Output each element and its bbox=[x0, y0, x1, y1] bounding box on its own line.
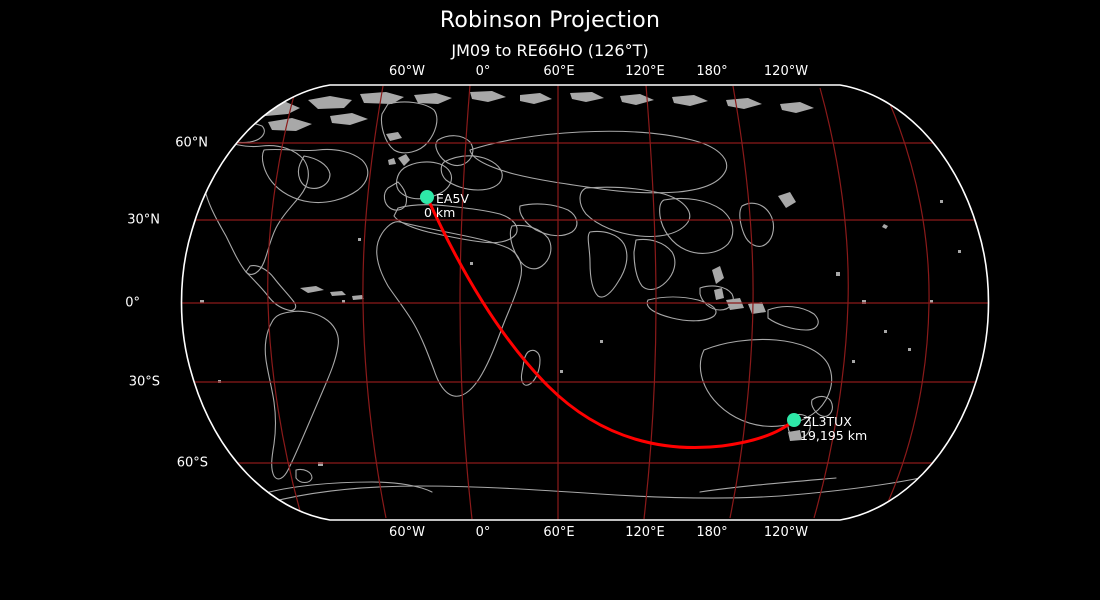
lon-tick-top-120e: 120°E bbox=[625, 64, 665, 79]
lon-tick-bottom-120w: 120°W bbox=[764, 525, 808, 540]
lon-tick-bottom-60e: 60°E bbox=[543, 525, 574, 540]
marker-endpoint-origin[interactable] bbox=[420, 190, 434, 204]
lat-tick-60s: 60°S bbox=[118, 456, 208, 471]
lon-tick-top-0: 0° bbox=[476, 64, 491, 79]
map-figure: Robinson Projection JM09 to RE66HO (126°… bbox=[0, 0, 1100, 600]
marker-endpoint-destination[interactable] bbox=[787, 413, 801, 427]
marker-distance-destination: 19,195 km bbox=[800, 428, 867, 443]
marker-distance-origin: 0 km bbox=[424, 205, 455, 220]
map-face bbox=[140, 80, 1000, 530]
marker-label-origin: EA5V bbox=[436, 191, 469, 206]
marker-label-destination: ZL3TUX bbox=[803, 414, 852, 429]
lat-tick-60n: 60°N bbox=[118, 136, 208, 151]
lat-tick-0: 0° bbox=[20, 296, 140, 311]
lon-tick-top-60e: 60°E bbox=[543, 64, 574, 79]
lon-tick-top-60w: 60°W bbox=[389, 64, 425, 79]
robinson-map-canvas bbox=[0, 0, 1100, 600]
lon-tick-bottom-120e: 120°E bbox=[625, 525, 665, 540]
lon-tick-bottom-60w: 60°W bbox=[389, 525, 425, 540]
lon-tick-top-120w: 120°W bbox=[764, 64, 808, 79]
lon-tick-top-180: 180° bbox=[696, 64, 727, 79]
lat-tick-30n: 30°N bbox=[20, 213, 160, 228]
lat-tick-30s: 30°S bbox=[20, 375, 160, 390]
lon-tick-bottom-180: 180° bbox=[696, 525, 727, 540]
lon-tick-bottom-0: 0° bbox=[476, 525, 491, 540]
